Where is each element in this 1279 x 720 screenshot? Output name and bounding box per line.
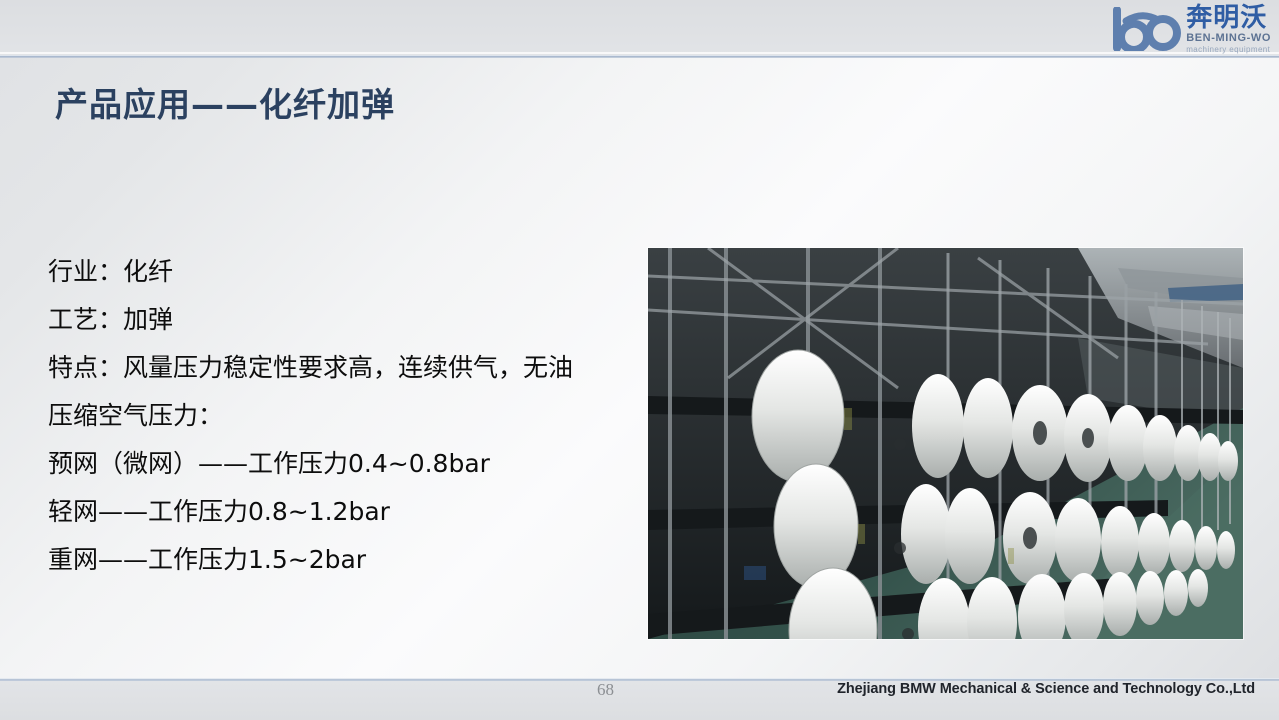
slide-title: 产品应用——化纤加弹	[55, 78, 395, 126]
body-line-characteristics: 特点：风量压力稳定性要求高，连续供气，无油	[48, 344, 618, 392]
body-line-heavy-network: 重网——工作压力1.5~2bar	[48, 536, 618, 584]
workshop-photo	[648, 248, 1243, 639]
page-number: 68	[597, 680, 614, 700]
header-rule-highlight	[0, 52, 1279, 54]
presentation-slide: 奔明沃 BEN-MING-WO machinery equipment 产品应用…	[0, 0, 1279, 720]
company-name-footer: Zhejiang BMW Mechanical & Science and Te…	[837, 681, 1255, 697]
logo-wordmark: 奔明沃 BEN-MING-WO machinery equipment	[1186, 6, 1271, 52]
logo-chinese-name: 奔明沃	[1186, 5, 1267, 31]
body-line-industry: 行业：化纤	[48, 248, 618, 296]
logo-tagline: machinery equipment	[1186, 46, 1270, 54]
body-line-pressure-header: 压缩空气压力：	[48, 392, 618, 440]
body-line-light-network: 轻网——工作压力0.8~1.2bar	[48, 488, 618, 536]
company-logo: 奔明沃 BEN-MING-WO machinery equipment	[1099, 3, 1271, 55]
slide-header-band	[0, 0, 1279, 57]
logo-romanized-name: BEN-MING-WO	[1186, 33, 1271, 44]
body-line-pre-network: 预网（微网）——工作压力0.4~0.8bar	[48, 440, 618, 488]
slide-body-text: 行业：化纤 工艺：加弹 特点：风量压力稳定性要求高，连续供气，无油 压缩空气压力…	[48, 248, 618, 584]
header-divider-rule	[0, 55, 1279, 58]
bo-monogram-icon	[1112, 7, 1184, 51]
workshop-photo-illustration	[648, 248, 1243, 639]
body-line-process: 工艺：加弹	[48, 296, 618, 344]
